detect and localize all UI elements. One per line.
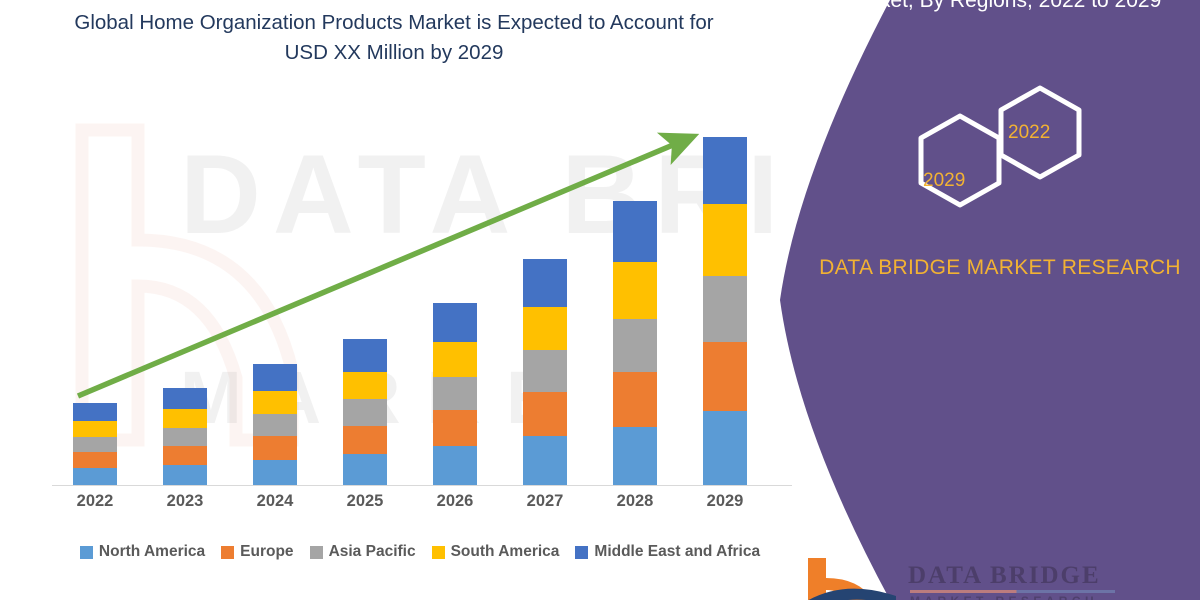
logo-tagline: MARKET RESEARCH — [910, 594, 1098, 600]
bar-segment-2023-middle-east-and-africa — [163, 388, 207, 409]
bar-segment-2029-europe — [703, 342, 747, 411]
bar-segment-2029-north-america — [703, 411, 747, 485]
x-axis-label-2023: 2023 — [145, 492, 225, 511]
bar-2028 — [613, 201, 657, 485]
company-logo: DATA BRIDGE MARKET RESEARCH — [800, 556, 1130, 600]
brand-panel: Market, By Regions, 2022 to 2029 2022 20… — [780, 0, 1200, 600]
hexagon-badges: 2022 2029 — [880, 80, 1110, 220]
bar-segment-2027-asia-pacific — [523, 350, 567, 391]
bar-segment-2023-north-america — [163, 465, 207, 485]
legend-item-north-america[interactable]: North America — [80, 543, 205, 561]
bar-segment-2023-europe — [163, 446, 207, 465]
bar-segment-2025-north-america — [343, 454, 387, 485]
bar-segment-2024-asia-pacific — [253, 414, 297, 436]
bar-segment-2027-middle-east-and-africa — [523, 259, 567, 307]
bar-segment-2029-south-america — [703, 204, 747, 276]
bar-segment-2028-europe — [613, 372, 657, 427]
x-axis-labels: 20222023202420252026202720282029 — [40, 492, 800, 520]
chart-title: Global Home Organization Products Market… — [64, 8, 724, 68]
bar-2023 — [163, 388, 207, 485]
bar-segment-2026-north-america — [433, 446, 477, 485]
x-axis-label-2022: 2022 — [55, 492, 135, 511]
legend-label: South America — [451, 543, 560, 561]
chart-legend: North AmericaEuropeAsia PacificSouth Ame… — [40, 539, 800, 565]
legend-swatch-icon — [575, 546, 588, 559]
x-axis-label-2025: 2025 — [325, 492, 405, 511]
legend-label: Asia Pacific — [329, 543, 416, 561]
legend-label: Middle East and Africa — [594, 543, 760, 561]
bridge-logo-icon — [800, 556, 900, 600]
bar-segment-2024-middle-east-and-africa — [253, 364, 297, 391]
bar-segment-2022-middle-east-and-africa — [73, 403, 117, 421]
bar-segment-2023-south-america — [163, 409, 207, 428]
legend-item-south-america[interactable]: South America — [432, 543, 560, 561]
bar-segment-2026-south-america — [433, 342, 477, 377]
hexagon-label-2029: 2029 — [923, 170, 965, 192]
bar-segment-2028-middle-east-and-africa — [613, 201, 657, 262]
x-axis-label-2029: 2029 — [685, 492, 765, 511]
hexagon-label-2022: 2022 — [1008, 122, 1050, 144]
bar-2025 — [343, 339, 387, 485]
x-axis-label-2027: 2027 — [505, 492, 585, 511]
bar-segment-2024-europe — [253, 436, 297, 459]
plot-area — [40, 100, 800, 490]
logo-divider — [910, 590, 1115, 593]
legend-swatch-icon — [432, 546, 445, 559]
bar-2022 — [73, 403, 117, 485]
bar-segment-2022-north-america — [73, 468, 117, 485]
bar-segment-2027-north-america — [523, 436, 567, 485]
panel-title: Market, By Regions, 2022 to 2029 — [810, 0, 1195, 17]
bar-segment-2022-asia-pacific — [73, 437, 117, 452]
bar-segment-2029-middle-east-and-africa — [703, 137, 747, 204]
legend-label: North America — [99, 543, 205, 561]
bar-segment-2025-middle-east-and-africa — [343, 339, 387, 372]
bar-segment-2027-europe — [523, 392, 567, 437]
legend-label: Europe — [240, 543, 293, 561]
hexagon-outlines-icon — [880, 80, 1110, 220]
bar-2029 — [703, 137, 747, 485]
bar-segment-2026-asia-pacific — [433, 377, 477, 410]
bar-segment-2025-europe — [343, 426, 387, 455]
bar-segment-2027-south-america — [523, 307, 567, 350]
bar-2024 — [253, 364, 297, 485]
x-axis-label-2028: 2028 — [595, 492, 675, 511]
bar-segment-2024-north-america — [253, 460, 297, 485]
x-axis-label-2024: 2024 — [235, 492, 315, 511]
x-axis-label-2026: 2026 — [415, 492, 495, 511]
bar-segment-2028-south-america — [613, 262, 657, 318]
chart-infographic: DATA BRI MARKE Global Home Organization … — [0, 0, 1200, 600]
bar-segment-2026-middle-east-and-africa — [433, 303, 477, 342]
bar-segment-2028-asia-pacific — [613, 319, 657, 372]
bar-segment-2029-asia-pacific — [703, 276, 747, 342]
brand-name: DATA BRIDGE MARKET RESEARCH — [815, 252, 1185, 283]
bar-2026 — [433, 303, 477, 485]
bar-segment-2026-europe — [433, 410, 477, 446]
bar-segment-2025-south-america — [343, 372, 387, 400]
bar-group — [40, 100, 800, 486]
legend-swatch-icon — [80, 546, 93, 559]
bar-segment-2024-south-america — [253, 391, 297, 414]
legend-item-asia-pacific[interactable]: Asia Pacific — [310, 543, 416, 561]
legend-swatch-icon — [310, 546, 323, 559]
bar-segment-2023-asia-pacific — [163, 428, 207, 446]
bar-segment-2028-north-america — [613, 427, 657, 485]
bar-2027 — [523, 259, 567, 485]
legend-item-europe[interactable]: Europe — [221, 543, 293, 561]
bar-segment-2022-europe — [73, 452, 117, 468]
logo-wordmark: DATA BRIDGE — [908, 562, 1101, 590]
bar-segment-2025-asia-pacific — [343, 399, 387, 426]
legend-item-middle-east-and-africa[interactable]: Middle East and Africa — [575, 543, 760, 561]
legend-swatch-icon — [221, 546, 234, 559]
bar-segment-2022-south-america — [73, 421, 117, 437]
